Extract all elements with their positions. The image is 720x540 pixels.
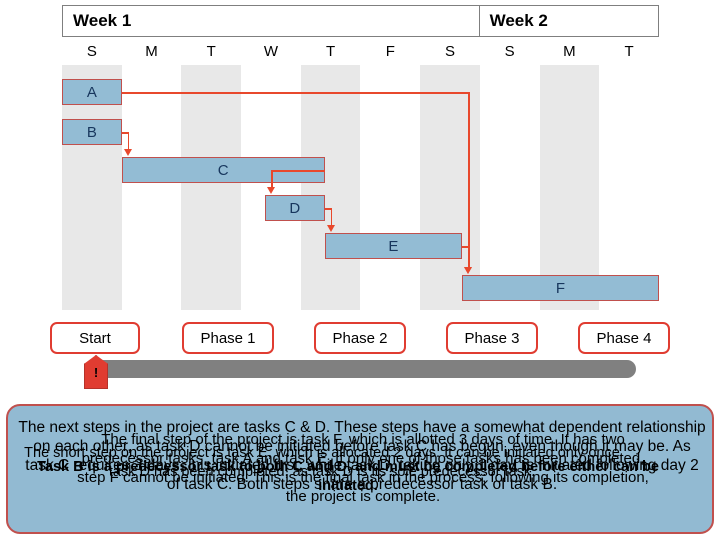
day-header-cell: T (301, 37, 361, 65)
grid-column (480, 65, 540, 310)
description-callout: The next steps in the project are tasks … (6, 404, 714, 534)
task-bar-f[interactable]: F (462, 275, 659, 301)
progress-track[interactable] (92, 360, 636, 378)
task-bar-d[interactable]: D (265, 195, 325, 221)
dependency-d-to-e-arrowhead (327, 225, 335, 232)
day-header-cell: S (480, 37, 540, 65)
day-header-cell: M (122, 37, 182, 65)
grid-column (540, 65, 600, 310)
grid-column (122, 65, 182, 310)
phase-button-row: StartPhase 1Phase 2Phase 3Phase 4 (0, 322, 720, 356)
task-bar-e[interactable]: E (325, 233, 462, 259)
day-header-row: SMTWTFSSMT (62, 37, 659, 65)
gantt-header: Week 1 Week 2 SMTWTFSSMT (62, 5, 659, 65)
day-header-cell: T (181, 37, 241, 65)
day-header-cell: W (241, 37, 301, 65)
phase-button-phase-2[interactable]: Phase 2 (314, 322, 406, 354)
dependency-b-to-c-arrowhead (124, 149, 132, 156)
grid-column (181, 65, 241, 310)
phase-button-phase-1[interactable]: Phase 1 (182, 322, 274, 354)
week-header-week-1: Week 1 (63, 6, 480, 36)
dependency-d-to-e-v (331, 208, 333, 226)
day-header-cell: S (420, 37, 480, 65)
dependency-c-to-d-h (271, 170, 325, 172)
task-bar-b[interactable]: B (62, 119, 122, 145)
grid-column (301, 65, 361, 310)
day-header-cell: F (360, 37, 420, 65)
gantt-body: ABCDEF (62, 65, 659, 310)
phase-button-phase-3[interactable]: Phase 3 (446, 322, 538, 354)
gantt-chart-slide: Week 1 Week 2 SMTWTFSSMT ABCDEF StartPha… (0, 0, 720, 540)
dependency-a-to-f-v (468, 92, 470, 268)
callout-paragraph-4: Task B is a predecessor task to both C a… (18, 458, 678, 496)
day-header-cell: T (599, 37, 659, 65)
column-stripes (62, 65, 659, 310)
day-header-cell: M (540, 37, 600, 65)
dependency-e-to-f-v (468, 246, 470, 268)
dependency-c-to-d-arrowhead (267, 187, 275, 194)
dependency-b-to-c-v (128, 132, 130, 150)
grid-column (599, 65, 659, 310)
dependency-a-to-f-h (122, 92, 468, 94)
day-header-cell: S (62, 37, 122, 65)
phase-button-start[interactable]: Start (50, 322, 140, 354)
phase-button-phase-4[interactable]: Phase 4 (578, 322, 670, 354)
week-header-row: Week 1 Week 2 (62, 5, 659, 37)
dependency-e-to-f-arrowhead (464, 267, 472, 274)
grid-column (360, 65, 420, 310)
task-bar-a[interactable]: A (62, 79, 122, 105)
week-header-week-2: Week 2 (480, 6, 658, 36)
dependency-c-to-d-v (271, 170, 273, 188)
